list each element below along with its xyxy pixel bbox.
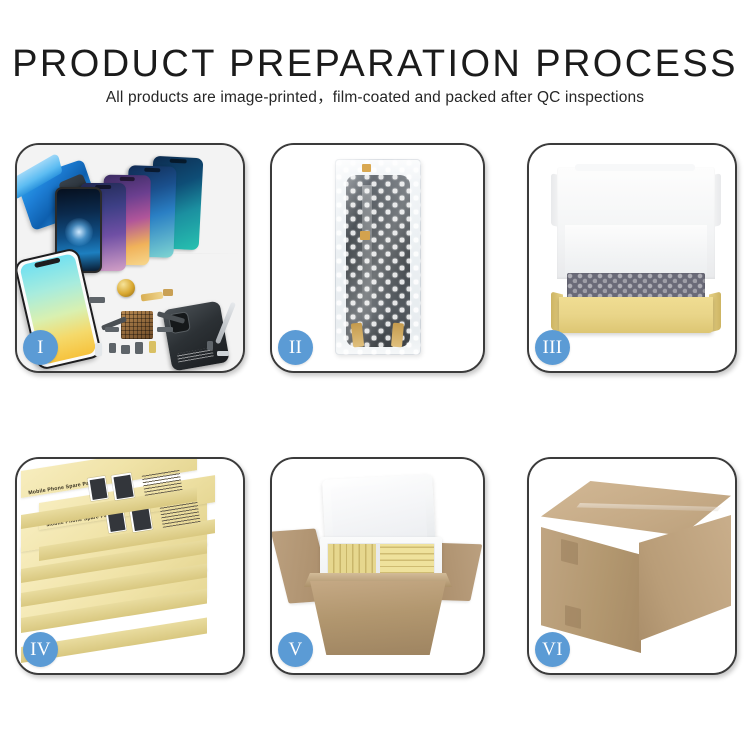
process-step-grid: I II [0, 0, 750, 750]
small-part [157, 327, 173, 332]
step-badge-6: VI [535, 632, 570, 667]
small-part [149, 341, 156, 353]
process-step-card-3[interactable]: III [527, 143, 737, 373]
small-part [95, 343, 102, 356]
process-step-card-2[interactable]: II [270, 143, 485, 373]
step-numeral: V [288, 640, 302, 659]
tape-patch-top [561, 539, 578, 565]
step-badge-2: II [278, 330, 313, 365]
box-front-panel [559, 297, 713, 333]
carton-right-face [639, 515, 731, 641]
box-screen-thumb-a1 [87, 476, 108, 502]
tape-piece-top [362, 164, 371, 172]
small-part [121, 345, 130, 354]
step-numeral: I [37, 338, 44, 357]
open-flat-box-icon [551, 167, 721, 345]
box-screen-thumb-b1 [111, 473, 135, 501]
flex-ribbon-icon [141, 292, 164, 302]
small-part [89, 297, 105, 303]
process-step-card-4[interactable]: Mobile Phone Spare Parts Mobile Phone Sp… [15, 457, 245, 675]
sealed-carton-icon [541, 481, 731, 653]
step-numeral: IV [30, 640, 51, 659]
step-numeral: VI [542, 640, 563, 659]
carton-with-styrofoam-icon [280, 477, 476, 661]
small-part [207, 341, 213, 350]
connector-left [350, 322, 363, 347]
carton-body [310, 581, 446, 655]
foam-sheet [565, 225, 707, 275]
step-badge-5: V [278, 632, 313, 667]
process-step-card-1[interactable]: I [15, 143, 245, 373]
process-step-card-6[interactable]: VI [527, 457, 737, 675]
step-badge-1: I [23, 330, 58, 365]
phone-notch [170, 159, 187, 164]
step-numeral: II [289, 338, 302, 357]
gold-component-icon [117, 279, 135, 297]
step-badge-4: IV [23, 632, 58, 667]
small-part [217, 351, 229, 356]
step-badge-3: III [535, 330, 570, 365]
plastic-shine [335, 159, 421, 355]
phone-notch [119, 177, 135, 181]
small-part [109, 343, 116, 353]
small-part [135, 342, 143, 354]
screen-burst-graphic [65, 218, 93, 246]
phone-notch [144, 168, 160, 173]
process-step-card-5[interactable]: V [270, 457, 485, 675]
step-numeral: III [543, 338, 563, 357]
bubble-wrap-bag-icon [335, 159, 421, 355]
small-part [163, 289, 173, 296]
tape-piece-mid [360, 231, 370, 240]
tape-patch-bottom [565, 605, 581, 629]
chip-grid-icon [121, 311, 153, 339]
small-part [105, 327, 119, 332]
